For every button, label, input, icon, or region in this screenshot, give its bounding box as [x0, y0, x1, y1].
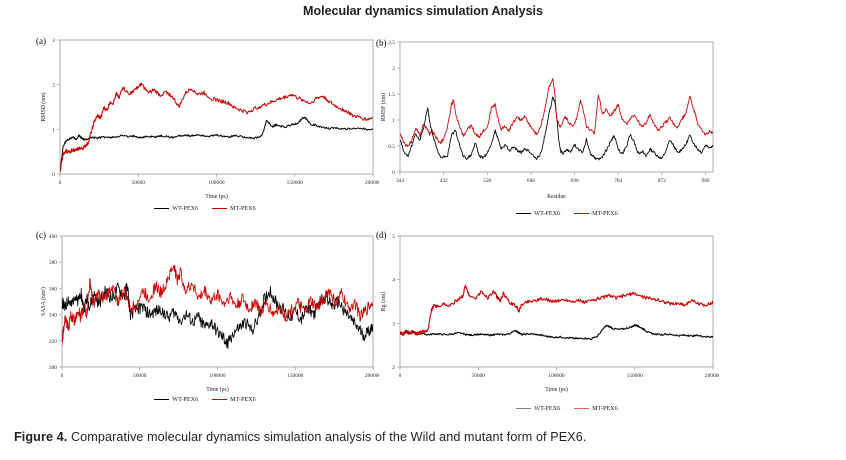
- legend-line-icon: [574, 213, 589, 215]
- svg-text:150000: 150000: [287, 180, 303, 186]
- svg-text:150000: 150000: [287, 373, 303, 379]
- svg-text:300: 300: [49, 365, 57, 371]
- svg-text:2: 2: [392, 365, 395, 371]
- svg-text:0.5: 0.5: [388, 144, 395, 150]
- svg-text:1.5: 1.5: [388, 92, 395, 98]
- svg-text:100000: 100000: [209, 373, 225, 379]
- legend-c: WT-PEX6 MT-PEX6: [110, 396, 300, 403]
- svg-text:344: 344: [396, 178, 404, 184]
- svg-text:50000: 50000: [132, 180, 146, 186]
- svg-text:Time (ps): Time (ps): [206, 386, 229, 393]
- svg-text:100000: 100000: [548, 373, 564, 379]
- svg-text:200000: 200000: [705, 373, 719, 379]
- svg-text:2: 2: [392, 66, 395, 72]
- legend-a-wt: WT-PEX6: [154, 205, 198, 212]
- chart-c-sasa: 0500001000001500002000003003203403603804…: [34, 228, 379, 393]
- caption-label: Figure 4.: [14, 430, 67, 444]
- legend-b: WT-PEX6 MT-PEX6: [472, 210, 662, 217]
- legend-line-icon: [212, 208, 227, 210]
- svg-text:0: 0: [392, 170, 395, 176]
- svg-text:1: 1: [52, 127, 55, 133]
- svg-text:Time (ps): Time (ps): [545, 386, 568, 393]
- legend-line-icon: [574, 408, 589, 410]
- legend-line-icon: [154, 208, 169, 210]
- svg-text:1: 1: [392, 118, 395, 124]
- svg-text:RMSF (nm): RMSF (nm): [380, 93, 387, 121]
- svg-text:872: 872: [658, 178, 666, 184]
- figure-caption: Figure 4. Comparative molecular dynamics…: [14, 430, 834, 444]
- figure-root: Molecular dynamics simulation Analysis (…: [0, 0, 846, 460]
- svg-text:0: 0: [61, 373, 64, 379]
- legend-line-icon: [516, 408, 531, 410]
- figure-title: Molecular dynamics simulation Analysis: [0, 4, 846, 18]
- svg-text:4: 4: [392, 278, 395, 284]
- panel-d: (d) 0500001000001500002000002345Time (ps…: [374, 228, 719, 393]
- legend-a-mt-label: MT-PEX6: [230, 205, 256, 212]
- svg-text:696: 696: [571, 178, 579, 184]
- panel-d-tag: (d): [376, 230, 387, 240]
- legend-d: WT-PEX6 MT-PEX6: [472, 405, 662, 412]
- svg-text:50000: 50000: [133, 373, 147, 379]
- legend-c-wt-label: WT-PEX6: [172, 396, 198, 403]
- panel-b-tag: (b): [376, 38, 387, 48]
- svg-text:520: 520: [483, 178, 491, 184]
- legend-line-icon: [154, 399, 169, 401]
- legend-b-mt: MT-PEX6: [574, 210, 618, 217]
- svg-text:50000: 50000: [472, 373, 486, 379]
- svg-text:380: 380: [49, 260, 57, 266]
- legend-d-wt-label: WT-PEX6: [534, 405, 560, 412]
- svg-text:784: 784: [614, 178, 622, 184]
- legend-c-mt: MT-PEX6: [212, 396, 256, 403]
- svg-text:608: 608: [527, 178, 535, 184]
- chart-b-rmsf: 34443252060869678487296000.511.522.5Resi…: [374, 32, 719, 200]
- panel-a-tag: (a): [36, 36, 46, 46]
- svg-text:2.5: 2.5: [388, 40, 395, 46]
- svg-text:0: 0: [399, 373, 402, 379]
- svg-text:3: 3: [52, 38, 55, 44]
- legend-b-wt-label: WT-PEX6: [534, 210, 560, 217]
- svg-text:2: 2: [52, 83, 55, 89]
- chart-d-rg: 0500001000001500002000002345Time (ps)Rg …: [374, 228, 719, 393]
- svg-text:960: 960: [702, 178, 710, 184]
- svg-text:0: 0: [52, 172, 55, 178]
- svg-text:320: 320: [49, 339, 57, 345]
- legend-line-icon: [516, 213, 531, 215]
- svg-text:360: 360: [49, 286, 57, 292]
- legend-b-mt-label: MT-PEX6: [592, 210, 618, 217]
- legend-d-wt: WT-PEX6: [516, 405, 560, 412]
- panel-c: (c) 050000100000150000200000300320340360…: [34, 228, 379, 393]
- legend-line-icon: [212, 399, 227, 401]
- panel-a: (a) 0500001000001500002000000123Time (ps…: [34, 32, 379, 200]
- svg-text:150000: 150000: [627, 373, 643, 379]
- legend-b-wt: WT-PEX6: [516, 210, 560, 217]
- svg-text:432: 432: [440, 178, 448, 184]
- svg-text:0: 0: [59, 180, 62, 186]
- svg-text:Residue: Residue: [547, 194, 566, 200]
- svg-text:400: 400: [49, 234, 57, 240]
- svg-text:340: 340: [49, 313, 57, 319]
- svg-text:5: 5: [392, 234, 395, 240]
- chart-a-rmsd: 0500001000001500002000000123Time (ps)RMS…: [34, 32, 379, 200]
- legend-c-wt: WT-PEX6: [154, 396, 198, 403]
- legend-d-mt-label: MT-PEX6: [592, 405, 618, 412]
- legend-d-mt: MT-PEX6: [574, 405, 618, 412]
- caption-text: Comparative molecular dynamics simulatio…: [67, 430, 586, 444]
- legend-a-mt: MT-PEX6: [212, 205, 256, 212]
- svg-text:SASA (nm²): SASA (nm²): [40, 287, 47, 316]
- legend-a-wt-label: WT-PEX6: [172, 205, 198, 212]
- legend-a: WT-PEX6 MT-PEX6: [110, 205, 300, 212]
- svg-text:3: 3: [392, 321, 395, 327]
- svg-text:Rg (nm): Rg (nm): [380, 292, 387, 312]
- svg-text:Time (ps): Time (ps): [205, 193, 228, 200]
- legend-c-mt-label: MT-PEX6: [230, 396, 256, 403]
- svg-text:100000: 100000: [208, 180, 224, 186]
- panel-c-tag: (c): [36, 230, 46, 240]
- panel-b: (b) 34443252060869678487296000.511.522.5…: [374, 32, 719, 200]
- svg-text:RMSD (nm): RMSD (nm): [40, 92, 47, 121]
